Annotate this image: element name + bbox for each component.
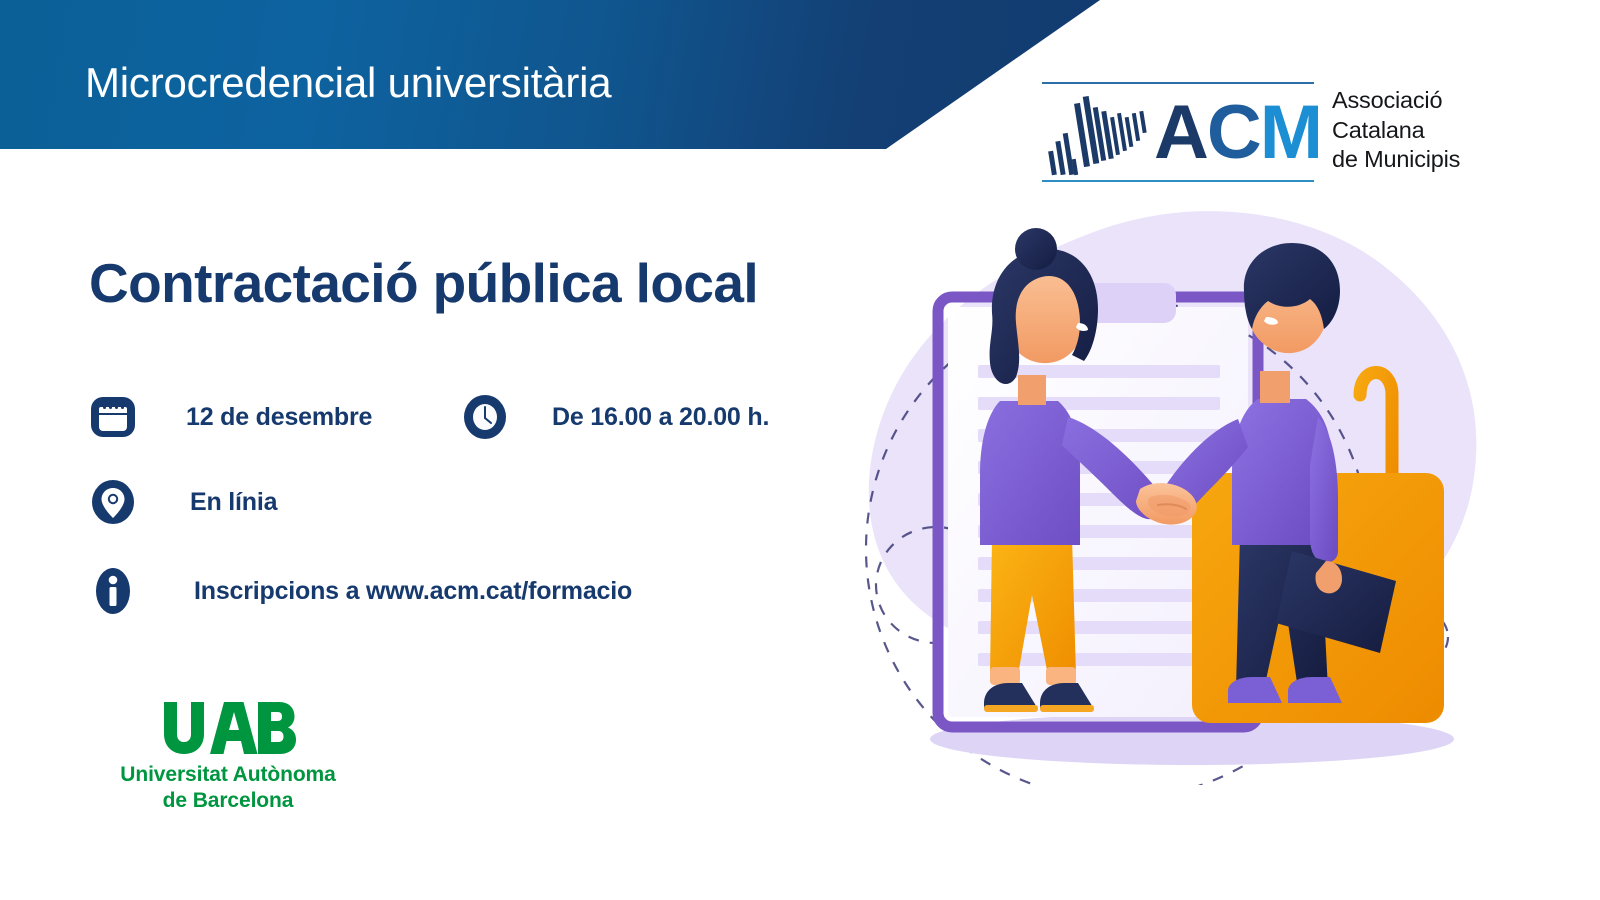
acm-subtitle: Associació Catalana de Municipis [1332,86,1460,175]
info-signup-text: Inscripcions a www.acm.cat/formacio [194,577,632,606]
info-row-signup: Inscripcions a www.acm.cat/formacio [88,566,632,616]
uab-name: Universitat Autònoma de Barcelona [78,762,378,814]
info-place-text: En línia [190,488,277,517]
info-date-text: 12 de desembre [186,403,372,432]
acm-subtitle-line-1: Associació [1332,86,1460,116]
acm-subtitle-line-3: de Municipis [1332,145,1460,175]
header-title: Microcredencial universitària [85,62,611,104]
acm-logo-frame: ACM [1042,82,1314,182]
info-row-place: En línia [88,477,277,527]
acm-bars-mark [1046,89,1154,177]
uab-name-line-2: de Barcelona [78,788,378,814]
location-pin-icon [88,477,138,527]
info-time-text: De 16.00 a 20.00 h. [552,403,769,432]
acm-subtitle-line-2: Catalana [1332,116,1460,146]
page-title: Contractació pública local [89,253,758,314]
poster-root: Microcredencial universitària [0,0,1600,900]
uab-name-line-1: Universitat Autònoma [78,762,378,788]
calendar-icon [88,392,138,442]
info-row-date: 12 de desembre [88,392,372,442]
clock-icon [460,392,510,442]
acm-wordmark: ACM [1154,88,1321,178]
uab-logo: Universitat Autònoma de Barcelona [78,700,378,820]
acm-letter-c: C [1207,90,1260,175]
acm-letter-m: M [1260,90,1321,175]
uab-acronym-mark [158,700,298,756]
info-icon [88,566,138,616]
handshake-contract-illustration [840,205,1540,785]
acm-logo: ACM Associació Catalana de Municipis [1042,82,1494,182]
info-row-time: De 16.00 a 20.00 h. [460,392,769,442]
acm-letter-a: A [1154,90,1207,175]
